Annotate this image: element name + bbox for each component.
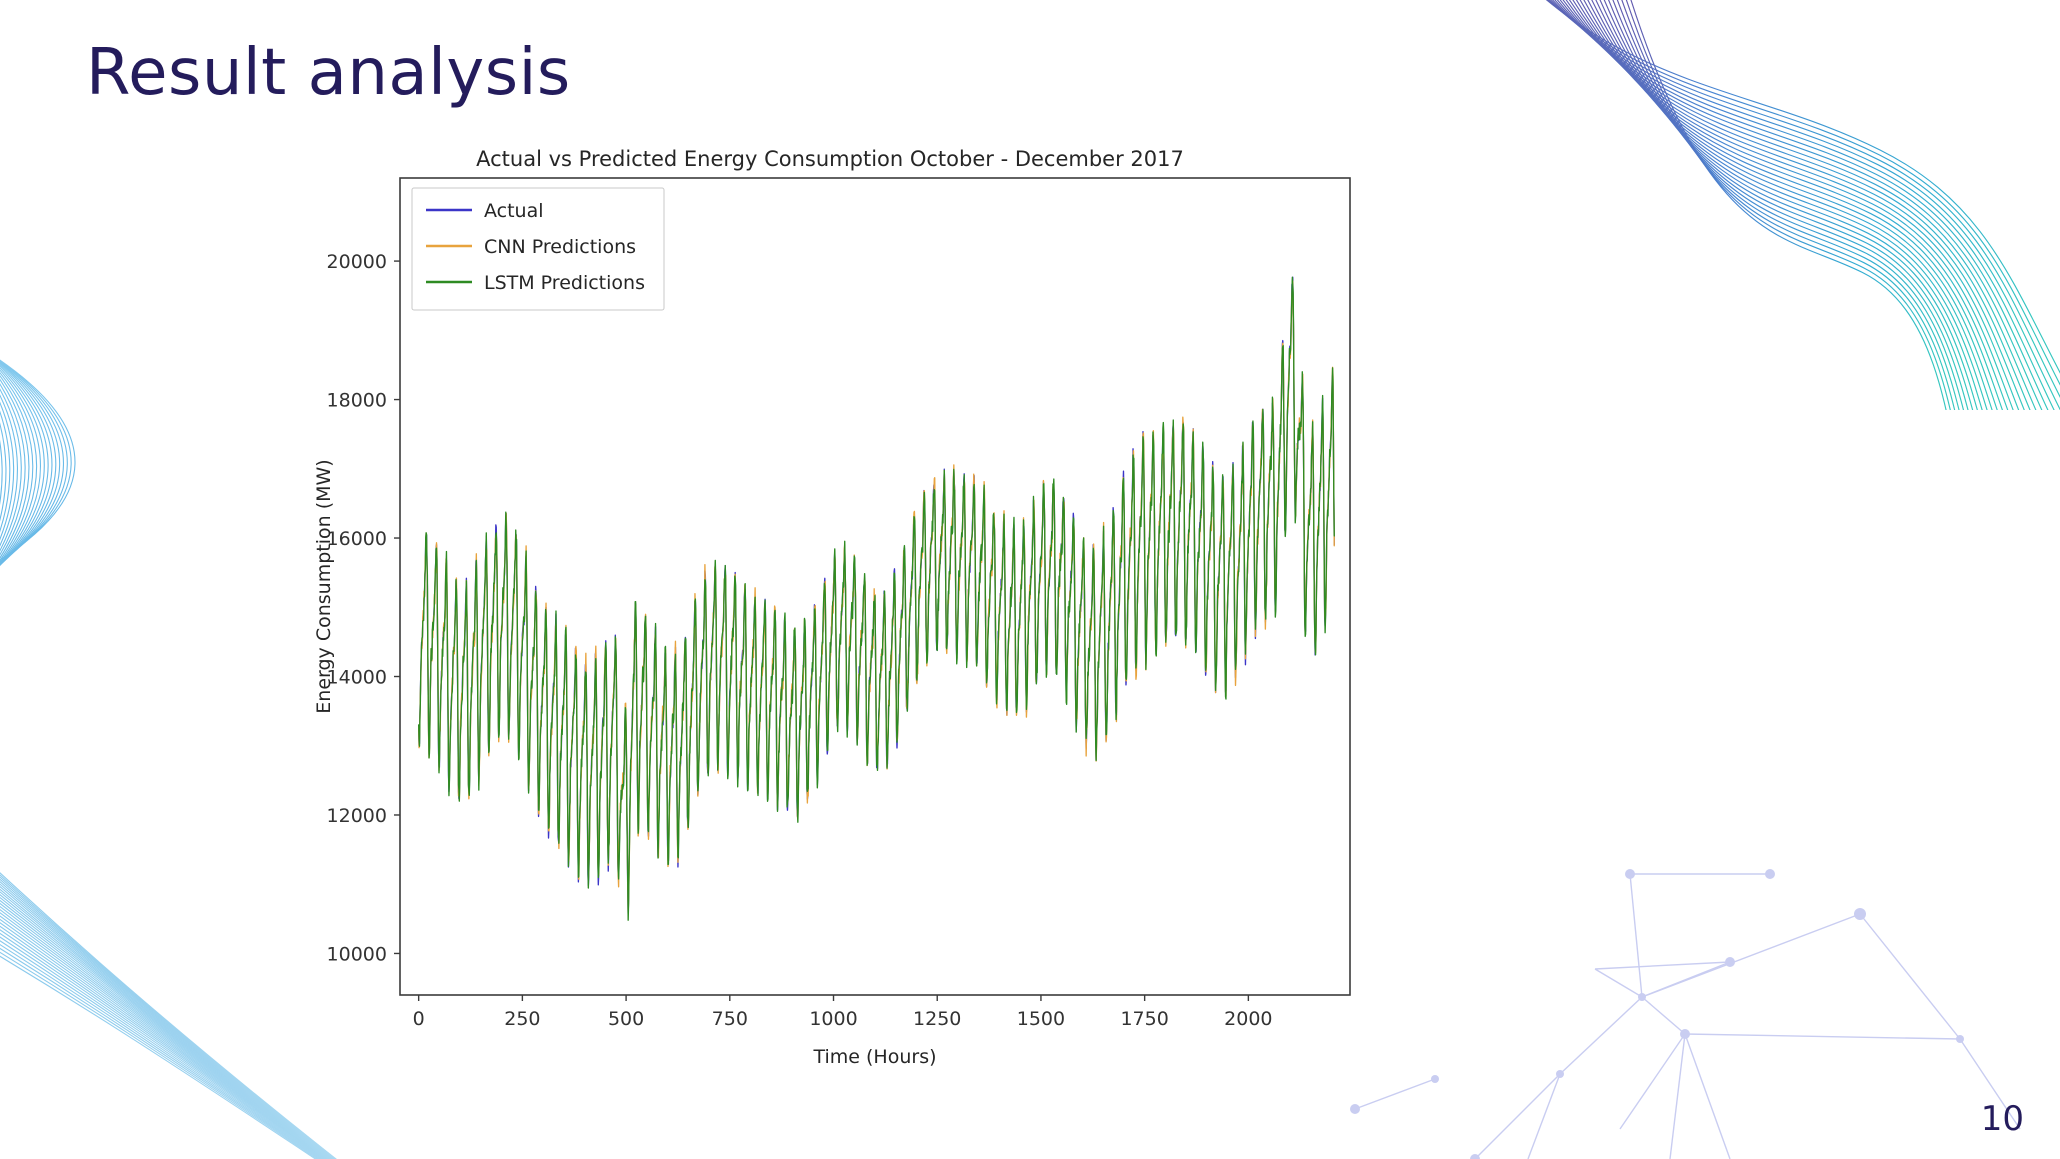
wave-line xyxy=(0,252,40,685)
wave-line xyxy=(1500,0,2060,410)
wave-line xyxy=(0,280,75,629)
y-tick-label: 14000 xyxy=(327,667,387,689)
wave-line xyxy=(0,227,10,735)
wave-line xyxy=(1605,0,1992,410)
x-tick-label: 1750 xyxy=(1120,1008,1168,1030)
wave-line xyxy=(0,268,60,654)
wave-line xyxy=(0,259,48,673)
legend-label-actual: Actual xyxy=(484,200,544,222)
x-axis-label: Time (Hours) xyxy=(812,1046,936,1068)
energy-consumption-chart: Actual vs Predicted Energy Consumption O… xyxy=(300,140,1360,1085)
wave-line xyxy=(1511,0,2060,410)
network-node-graphic-icon xyxy=(1260,829,2060,1159)
wave-line xyxy=(1527,0,2060,410)
wave-line xyxy=(0,234,17,723)
y-axis-label: Energy Consumption (MW) xyxy=(313,459,335,713)
wave-line xyxy=(1506,0,2060,410)
wave-line xyxy=(1516,0,2060,410)
wave-line xyxy=(1611,0,1987,410)
x-tick-label: 750 xyxy=(712,1008,748,1030)
x-tick-label: 1250 xyxy=(913,1008,961,1030)
wave-line xyxy=(1616,0,1981,410)
wave-line xyxy=(1579,0,2020,410)
wave-line xyxy=(0,265,56,660)
x-tick-label: 0 xyxy=(413,1008,425,1030)
slide-canvas: Result analysis Actual vs Predicted Ener… xyxy=(0,0,2060,1159)
wave-line xyxy=(1548,0,2055,410)
wave-line xyxy=(1495,0,2060,410)
wave-line xyxy=(1563,0,2037,410)
x-tick-label: 2000 xyxy=(1224,1008,1272,1030)
wave-line xyxy=(1621,0,1976,410)
wave-line xyxy=(1626,0,1970,410)
wave-line xyxy=(1590,0,2010,410)
x-tick-label: 500 xyxy=(608,1008,644,1030)
wave-lines-left-upper-icon xyxy=(0,150,280,850)
chart-title: Actual vs Predicted Energy Consumption O… xyxy=(476,147,1184,171)
y-axis-ticks: 100001200014000160001800020000 xyxy=(327,251,400,965)
y-tick-label: 16000 xyxy=(327,528,387,550)
page-title: Result analysis xyxy=(86,36,571,110)
y-tick-label: 18000 xyxy=(327,390,387,412)
legend-label-lstm-predictions: LSTM Predictions xyxy=(484,272,645,294)
wave-line xyxy=(1553,0,2049,410)
wave-line xyxy=(0,221,2,747)
y-tick-label: 20000 xyxy=(327,251,387,273)
wave-line xyxy=(0,243,29,704)
x-axis-ticks: 025050075010001250150017502000 xyxy=(413,995,1273,1030)
wave-line xyxy=(1584,0,2015,410)
wave-line xyxy=(1542,0,2059,410)
wave-line xyxy=(0,249,37,691)
wave-line xyxy=(1537,0,2060,410)
wave-line xyxy=(1558,0,2043,410)
wave-line xyxy=(0,262,52,667)
wave-line xyxy=(0,237,21,717)
wave-line xyxy=(0,246,33,698)
x-tick-label: 1000 xyxy=(809,1008,857,1030)
x-tick-label: 250 xyxy=(504,1008,540,1030)
wave-line xyxy=(1569,0,2032,410)
wave-line xyxy=(0,274,67,641)
chart-legend[interactable]: ActualCNN PredictionsLSTM Predictions xyxy=(412,188,664,310)
page-number: 10 xyxy=(1981,1099,2024,1139)
wave-line xyxy=(1532,0,2060,410)
legend-label-cnn-predictions: CNN Predictions xyxy=(484,236,636,258)
x-tick-label: 1500 xyxy=(1017,1008,1065,1030)
wave-line xyxy=(1595,0,2004,410)
wave-line xyxy=(0,231,14,729)
wave-line xyxy=(0,256,44,679)
wave-line xyxy=(1600,0,1998,410)
wave-lines-top-right-icon xyxy=(1320,0,2060,410)
wave-line xyxy=(0,224,6,741)
wave-line xyxy=(1521,0,2060,410)
wave-line xyxy=(0,271,63,648)
wave-line xyxy=(0,277,71,635)
wave-line xyxy=(0,240,25,710)
wave-line xyxy=(1574,0,2026,410)
y-tick-label: 12000 xyxy=(327,805,387,827)
y-tick-label: 10000 xyxy=(327,943,387,965)
